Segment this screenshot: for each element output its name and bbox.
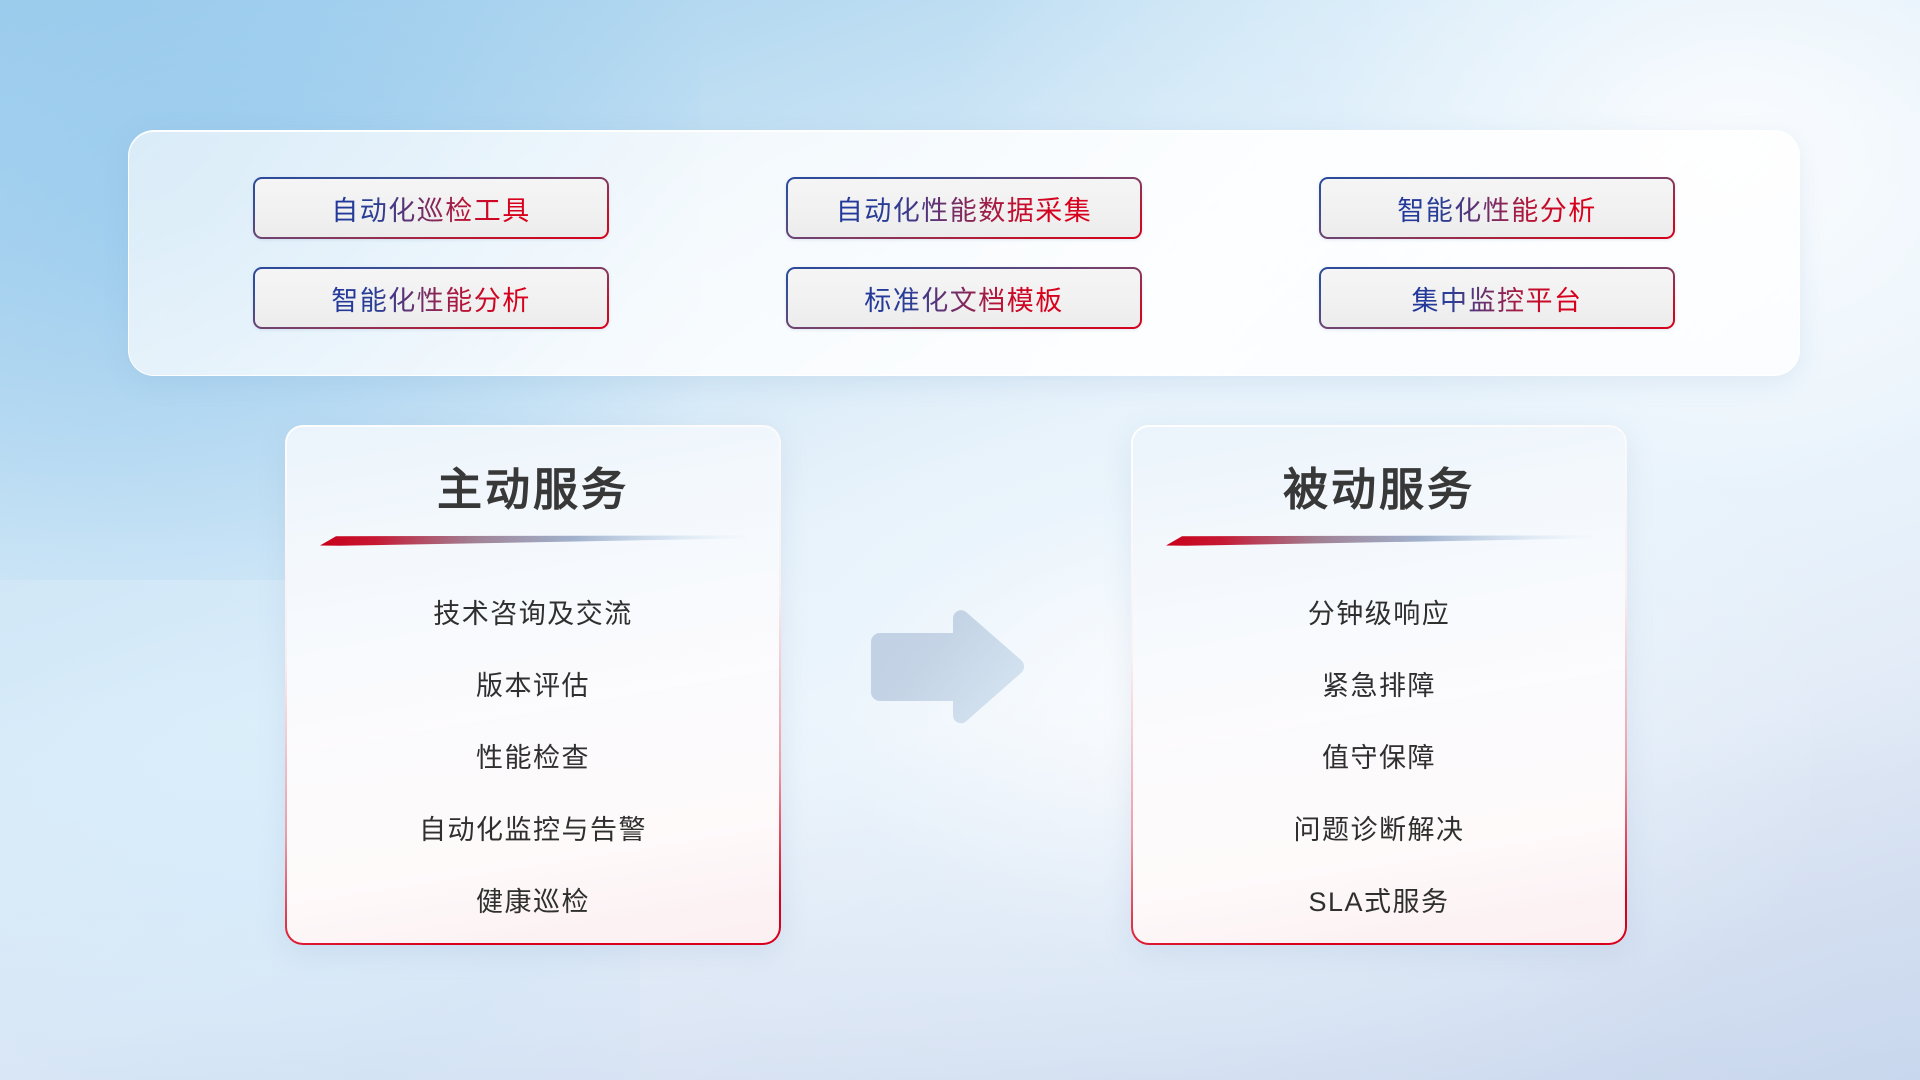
- service-card-list: 技术咨询及交流 版本评估 性能检查 自动化监控与告警 健康巡检: [287, 578, 779, 938]
- service-card-title: 被动服务: [1283, 465, 1475, 515]
- right-arrow-icon: [865, 608, 1027, 726]
- capability-panel: 自动化巡检工具 自动化性能数据采集 智能化性能分析 智能化性能分析 标准化文档模…: [128, 130, 1800, 376]
- capability-pill-automated-inspection-tool[interactable]: 自动化巡检工具: [253, 177, 609, 239]
- capability-slot: 自动化巡检工具: [181, 177, 681, 239]
- capability-slot: 集中监控平台: [1247, 267, 1747, 329]
- list-item[interactable]: 分钟级响应: [1308, 578, 1451, 650]
- list-item[interactable]: 版本评估: [476, 650, 590, 722]
- service-card-title: 主动服务: [437, 465, 629, 515]
- capability-pill-label: 智能化性能分析: [331, 279, 531, 318]
- capability-pill-label: 自动化性能数据采集: [836, 189, 1093, 228]
- capability-slot: 智能化性能分析: [181, 267, 681, 329]
- list-item[interactable]: 问题诊断解决: [1294, 794, 1465, 866]
- capability-pill-label: 集中监控平台: [1412, 279, 1583, 318]
- service-card-passive[interactable]: 被动服务 分钟级响应 紧急排障 值守保障 问题诊断解决 SLA式服务: [1131, 425, 1627, 945]
- capability-pill-intelligent-performance-analysis[interactable]: 智能化性能分析: [1319, 177, 1675, 239]
- list-item[interactable]: 性能检查: [476, 722, 590, 794]
- capability-pill-label: 智能化性能分析: [1397, 189, 1597, 228]
- list-item[interactable]: 健康巡检: [476, 866, 590, 938]
- service-card-list: 分钟级响应 紧急排障 值守保障 问题诊断解决 SLA式服务: [1133, 578, 1625, 938]
- capability-slot: 智能化性能分析: [1247, 177, 1747, 239]
- capability-pill-automated-performance-data-collection[interactable]: 自动化性能数据采集: [786, 177, 1142, 239]
- capability-row-1: 自动化巡检工具 自动化性能数据采集 智能化性能分析: [181, 177, 1747, 239]
- capability-pill-centralized-monitoring-platform[interactable]: 集中监控平台: [1319, 267, 1675, 329]
- list-item[interactable]: 自动化监控与告警: [419, 794, 647, 866]
- capability-pill-label: 标准化文档模板: [864, 279, 1064, 318]
- capability-slot: 自动化性能数据采集: [714, 177, 1214, 239]
- capability-slot: 标准化文档模板: [714, 267, 1214, 329]
- capability-pill-intelligent-performance-analysis-2[interactable]: 智能化性能分析: [253, 267, 609, 329]
- list-item[interactable]: 值守保障: [1322, 722, 1436, 794]
- service-card-active[interactable]: 主动服务 技术咨询及交流 版本评估 性能检查 自动化监控与告警 健康巡检: [285, 425, 781, 945]
- capability-row-2: 智能化性能分析 标准化文档模板 集中监控平台: [181, 267, 1747, 329]
- list-item[interactable]: SLA式服务: [1308, 866, 1449, 938]
- list-item[interactable]: 技术咨询及交流: [433, 578, 633, 650]
- capability-pill-standardized-document-template[interactable]: 标准化文档模板: [786, 267, 1142, 329]
- list-item[interactable]: 紧急排障: [1322, 650, 1436, 722]
- title-divider: [1166, 535, 1592, 546]
- title-divider: [320, 535, 746, 546]
- capability-pill-label: 自动化巡检工具: [331, 189, 531, 228]
